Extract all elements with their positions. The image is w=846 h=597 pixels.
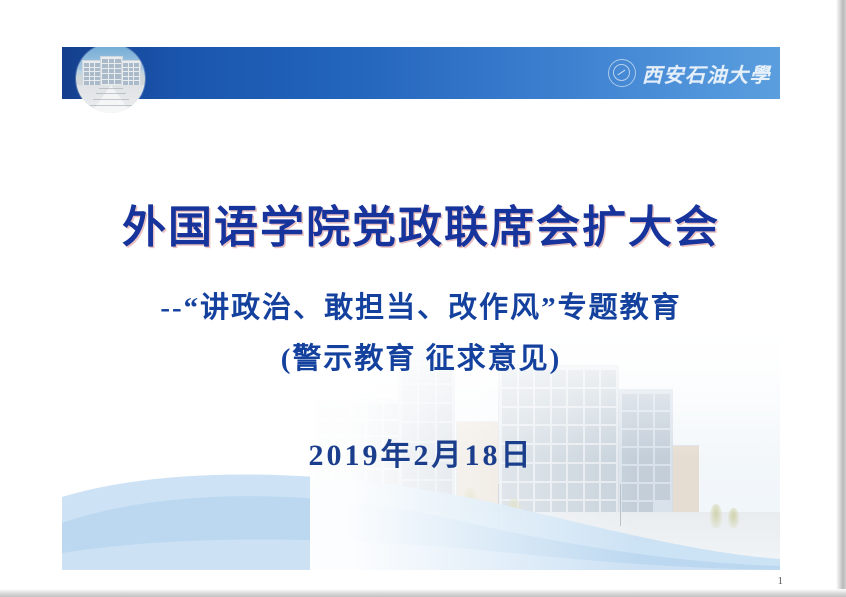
badge-path-line [93, 99, 129, 100]
university-logo: 西安石油大學 [608, 55, 771, 91]
badge-path-line [99, 88, 123, 89]
slide-subtitle-line-2: (警示教育 征求意见) [62, 335, 780, 377]
university-name-label: 西安石油大學 [642, 59, 771, 88]
page-frame-right-edge [836, 0, 846, 597]
slide-subtitle-line-1: --“讲政治、敢担当、改作风”专题教育 [62, 284, 780, 326]
wave-shape-accent [62, 540, 780, 570]
photo-tree-icon [440, 494, 456, 528]
photo-tree-icon [710, 504, 722, 528]
photo-lamp-post-icon [620, 484, 621, 526]
page-frame: 西安石油大學 [0, 0, 846, 597]
slide-date: 2019年2月18日 [62, 430, 780, 474]
presentation-slide: 西安石油大學 [62, 47, 780, 570]
wave-shape-back [62, 474, 780, 570]
page-frame-bottom-edge [0, 589, 846, 597]
badge-path-line [96, 93, 126, 94]
slide-number: 1 [778, 575, 784, 587]
photo-tree-icon [506, 498, 522, 528]
photo-ground [310, 512, 780, 570]
photo-tree-icon [462, 488, 478, 528]
page-title: 外国语学院党政联席会扩大会 [62, 205, 780, 251]
photo-lamp-post-icon [498, 484, 499, 526]
wave-shape-front [62, 496, 780, 570]
slide-header-bar: 西安石油大學 [62, 47, 780, 99]
badge-path-line [90, 105, 132, 106]
campus-badge-photo [76, 47, 145, 113]
university-seal-icon [608, 59, 636, 87]
photo-tree-icon [728, 508, 739, 528]
